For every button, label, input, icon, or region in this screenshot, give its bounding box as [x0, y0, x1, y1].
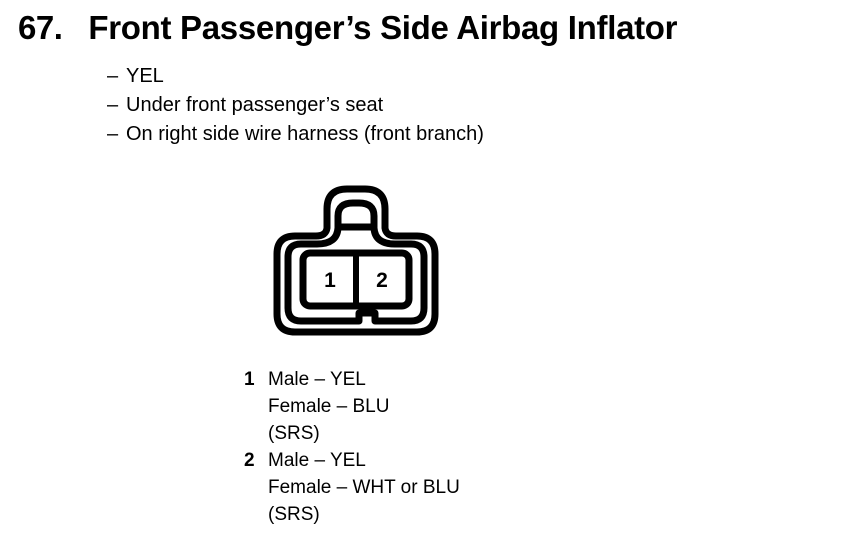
note-item-text: Under front passenger’s seat: [126, 91, 383, 120]
connector-diagram: 1 2: [263, 176, 449, 342]
document-page: 67. Front Passenger’s Side Airbag Inflat…: [0, 0, 864, 544]
pin-legend-line: Male – YEL: [268, 366, 389, 393]
note-item: – YEL: [107, 62, 807, 91]
pin-legend-lines: Male – YEL Female – WHT or BLU (SRS): [268, 447, 460, 528]
dash-bullet-icon: –: [107, 120, 126, 149]
pin-legend-index: 1: [244, 366, 268, 393]
page-header: 67. Front Passenger’s Side Airbag Inflat…: [18, 8, 848, 48]
note-item: – Under front passenger’s seat: [107, 91, 807, 120]
pin-legend-line: (SRS): [268, 420, 389, 447]
pin-legend-line: Female – BLU: [268, 393, 389, 420]
pin-legend-entry: 2 Male – YEL Female – WHT or BLU (SRS): [244, 447, 644, 528]
dash-bullet-icon: –: [107, 62, 126, 91]
pin-legend-index: 2: [244, 447, 268, 474]
notes-list: – YEL – Under front passenger’s seat – O…: [107, 62, 807, 149]
pin-legend-lines: Male – YEL Female – BLU (SRS): [268, 366, 389, 447]
connector-illustration: 1 2: [263, 176, 449, 342]
pin-legend-line: Male – YEL: [268, 447, 460, 474]
pin-legend: 1 Male – YEL Female – BLU (SRS) 2 Male –…: [244, 366, 644, 528]
pin-legend-line: (SRS): [268, 501, 460, 528]
note-item-text: On right side wire harness (front branch…: [126, 120, 484, 149]
pin-legend-line: Female – WHT or BLU: [268, 474, 460, 501]
pin-cavity-label-1: 1: [324, 269, 336, 292]
pin-cavity-label-2: 2: [376, 269, 388, 292]
dash-bullet-icon: –: [107, 91, 126, 120]
note-item: – On right side wire harness (front bran…: [107, 120, 807, 149]
note-item-text: YEL: [126, 62, 164, 91]
pin-legend-entry: 1 Male – YEL Female – BLU (SRS): [244, 366, 644, 447]
entry-number: 67.: [18, 8, 62, 48]
page-title: Front Passenger’s Side Airbag Inflator: [88, 8, 677, 48]
